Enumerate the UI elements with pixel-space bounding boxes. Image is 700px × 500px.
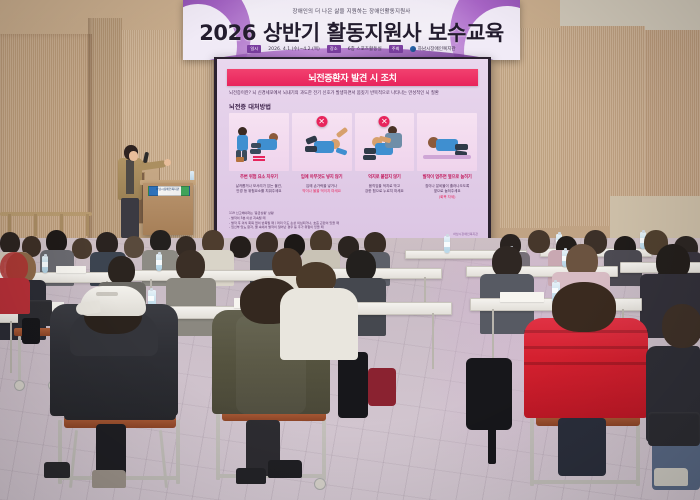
speaker-inner-top — [126, 160, 134, 194]
speaker-legs — [121, 198, 139, 238]
arrow-indicator — [253, 156, 265, 158]
table-leg — [432, 313, 434, 369]
x-mark-icon: ✕ — [379, 116, 390, 127]
slide-brand-mark: 하남시장애인복지관 — [453, 232, 478, 236]
attendee-shoe — [44, 462, 70, 478]
figure-leg — [250, 149, 261, 154]
slide-title-bar: 뇌전증환자 발견 시 조치 — [227, 69, 478, 86]
attendee-body-hoodie — [280, 288, 358, 360]
figure-torso-lying — [314, 141, 334, 153]
slide-illustration-row: ✕ ✕ — [229, 113, 477, 171]
red-bag — [368, 368, 396, 406]
banner-meta-tag-host: 주최 — [389, 45, 403, 53]
slide-caption-body-row: 날카롭거나 모서리가 있는 물건, 안경 등 위험요소를 치워주세요 입에 손가… — [229, 184, 477, 200]
slide-title: 뇌전증환자 발견 시 조치 — [308, 71, 396, 84]
slide-caption-1: 주변 위험 요소 치우기 — [229, 174, 289, 183]
arrow-indicator — [253, 159, 265, 161]
railing-post — [34, 214, 37, 236]
banner-subtitle: 장애인의 더 나은 삶을 지원하는 장애인활동지원사 — [183, 7, 520, 15]
railing-bar — [0, 212, 92, 216]
figure-leg — [251, 143, 261, 148]
cap-logo — [96, 292, 118, 296]
railing-post — [86, 214, 89, 236]
slide-footer-notes: 119 신고해야하는 '응급상황' 상황 - 발작이 5분 이상 지속될 때 -… — [229, 211, 429, 230]
chair-back — [648, 412, 700, 446]
slide-caption-row: 주변 위험 요소 치우기 입에 아무것도 넣지 않기 억지로 붙잡지 않기 발작… — [229, 174, 477, 183]
figure-leg — [305, 146, 317, 152]
hanging-bag — [22, 318, 40, 344]
attendee-head — [0, 232, 20, 254]
figure-arm — [335, 147, 347, 155]
attendee-head — [176, 250, 205, 281]
slide-footer-line: - 임신부·당뇨 환자, 물 속에서 발작이 일어난 경우 등 추가 위험이 있… — [229, 225, 429, 230]
slide-caption-4: 발작이 멈추면 옆으로 눕히기 — [417, 174, 477, 183]
welfare-center-logo-icon — [410, 46, 416, 52]
slide-panel-2: ✕ — [292, 113, 352, 171]
attendee-shoe — [92, 470, 126, 488]
puffer-seam — [524, 362, 648, 365]
attendee-red-puffer-head — [552, 282, 616, 332]
attendee-shoe — [268, 460, 302, 478]
event-banner: 장애인의 더 나은 삶을 지원하는 장애인활동지원사 2026 상반기 활동지원… — [183, 0, 520, 60]
figure-leg — [364, 148, 376, 154]
banner-meta-place: 6층 스포츠활동실 — [348, 46, 382, 52]
banner-meta-tag-date: 일시 — [247, 45, 261, 53]
x-mark-icon: ✕ — [316, 116, 327, 127]
backpack-strap — [488, 424, 496, 464]
slide-caption-3: 억지로 붙잡지 않기 — [355, 174, 415, 183]
slide-body-3: 움직임을 억지로 막고 강한 힘으로 누르지 마세요 — [355, 184, 415, 200]
figure-leg — [455, 144, 468, 150]
wall-panel-left — [0, 34, 92, 250]
figure-torso — [237, 135, 248, 151]
projection-screen: 뇌전증환자 발견 시 조치 뇌전증이란? 뇌 신경세포에서 뇌내기의 과도한 전… — [217, 59, 488, 240]
attendee-head — [662, 304, 700, 348]
podium-sign-text: 하남시장애인복지관 — [156, 187, 179, 191]
attendee-red-puffer-body — [524, 318, 648, 418]
chair-caster — [14, 380, 25, 391]
speaker-right-hand — [164, 159, 171, 166]
banner-host-logo: 하남시장애인복지관 — [410, 46, 456, 52]
slide-panel-4 — [417, 113, 477, 171]
puffer-seam — [524, 346, 648, 349]
attendee-head — [72, 238, 92, 259]
attendee-head — [528, 230, 550, 253]
slide-body-line: 안경 등 위험요소를 치워주세요 — [229, 189, 289, 194]
floor-line — [423, 155, 471, 159]
water-bottle — [42, 256, 48, 273]
table-leg — [10, 321, 12, 373]
attendee-head — [150, 230, 171, 252]
slide-body-2: 입에 손가락을 넣거나 약이나 물을 먹이지 마세요 — [292, 184, 352, 200]
banner-meta-date: 2026. 4.1.(수)~4.2.(목) — [268, 46, 320, 52]
hazard-object — [236, 157, 244, 162]
banner-meta-tag-place: 장소 — [327, 45, 341, 53]
slide-body-note: (회복 자세) — [417, 195, 477, 200]
slide-body-4: 침이나 분비물이 흘러나오도록 옆으로 눕혀주세요 (회복 자세) — [417, 184, 477, 200]
backpack — [466, 358, 512, 430]
attendee-head — [124, 236, 144, 258]
wall-panel-recess — [92, 18, 122, 250]
slide-panel-1 — [229, 113, 289, 171]
slide-panel-3: ✕ — [355, 113, 415, 171]
attendee-head — [108, 256, 135, 285]
figure-arm — [335, 127, 348, 138]
wall-panel-right-c — [645, 30, 700, 200]
slide-section-heading: 뇌전증 대처방법 — [229, 102, 271, 111]
banner-meta-host: 하남시장애인복지관 — [418, 46, 456, 52]
attendee-shoe — [654, 468, 688, 486]
speaker-face — [129, 151, 138, 161]
slide-lead-text: 뇌전증이란? 뇌 신경세포에서 뇌내기의 과도한 전기 신호가 발생하면서 몸짓… — [229, 91, 477, 97]
handout-paper — [56, 266, 86, 273]
attendee-shoe — [236, 468, 266, 484]
slide-caption-2: 입에 아무것도 넣지 않기 — [292, 174, 352, 183]
hanging-coat — [338, 352, 368, 418]
attendee-body — [0, 278, 30, 314]
slide-body-line-highlight: 약이나 물을 먹이지 마세요 — [292, 189, 352, 194]
slide-body-1: 날카롭거나 모서리가 있는 물건, 안경 등 위험요소를 치워주세요 — [229, 184, 289, 200]
water-bottle — [156, 254, 162, 271]
figure-leg — [363, 155, 376, 160]
lecture-hall-photo: 장애인의 더 나은 삶을 지원하는 장애인활동지원사 2026 상반기 활동지원… — [0, 0, 700, 500]
handout-paper — [500, 292, 544, 302]
slide-body-line: 강한 힘으로 누르지 마세요 — [355, 189, 415, 194]
banner-meta-row: 일시 2026. 4.1.(수)~4.2.(목) 장소 6층 스포츠활동실 주최… — [183, 45, 520, 53]
water-bottle — [444, 236, 450, 253]
attendee-leg — [558, 418, 606, 476]
banner-title: 2026 상반기 활동지원사 보수교육 — [183, 17, 520, 47]
